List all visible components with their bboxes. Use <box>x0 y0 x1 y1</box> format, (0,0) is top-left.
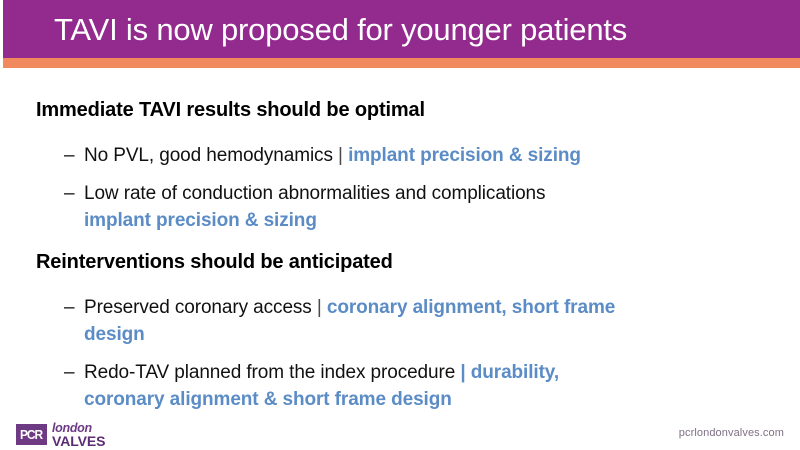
pcr-logo-icon: PCR <box>16 424 47 445</box>
bullet-text: Preserved coronary access | coronary ali… <box>84 297 615 318</box>
bullet-separator: | <box>338 145 348 166</box>
bullet-text: No PVL, good hemodynamics | implant prec… <box>84 145 581 166</box>
bullet-dash-icon: – <box>64 295 84 321</box>
logo-valves-text: VALVES <box>52 434 105 448</box>
bullet-item: –Redo-TAV planned from the index procedu… <box>64 360 784 413</box>
bullet-text-plain: Preserved coronary access <box>84 297 317 318</box>
pcr-london-valves-logo: PCR london VALVES <box>16 422 105 448</box>
section-heading-1: Immediate TAVI results should be optimal <box>36 97 425 123</box>
section-heading-2: Reinterventions should be anticipated <box>36 249 393 275</box>
bullet-text-highlight: | durability, <box>460 362 559 383</box>
bullet-text-plain: Low rate of conduction abnormalities and… <box>84 183 545 204</box>
bullet-separator: | <box>317 297 327 318</box>
slide-body: Immediate TAVI results should be optimal… <box>0 68 800 408</box>
slide: TAVI is now proposed for younger patient… <box>0 0 800 450</box>
bullet-dash-icon: – <box>64 143 84 169</box>
bullet-text: Redo-TAV planned from the index procedur… <box>84 362 559 383</box>
bullet-item: –No PVL, good hemodynamics | implant pre… <box>64 143 784 169</box>
footer-url: pcrlondonvalves.com <box>679 427 784 439</box>
bullet-item: –Preserved coronary access | coronary al… <box>64 295 784 348</box>
bullet-text-plain: No PVL, good hemodynamics <box>84 145 338 166</box>
bullet-text-highlight: coronary alignment, short frame <box>327 297 615 318</box>
bullet-dash-icon: – <box>64 181 84 207</box>
page-title: TAVI is now proposed for younger patient… <box>54 11 784 49</box>
bullet-text-plain: Redo-TAV planned from the index procedur… <box>84 362 460 383</box>
bullet-text-highlight: design <box>84 322 784 348</box>
bullet-text-highlight: implant precision & sizing <box>84 208 784 234</box>
slide-footer: PCR london VALVES pcrlondonvalves.com <box>0 408 800 450</box>
pcr-logo-text: PCR <box>20 427 42 442</box>
bullet-text: Low rate of conduction abnormalities and… <box>84 183 545 204</box>
accent-bar <box>3 58 800 68</box>
logo-wordmark: london VALVES <box>52 422 105 448</box>
bullet-dash-icon: – <box>64 360 84 386</box>
bullet-item: –Low rate of conduction abnormalities an… <box>64 181 784 234</box>
bullet-text-highlight: implant precision & sizing <box>348 145 581 166</box>
